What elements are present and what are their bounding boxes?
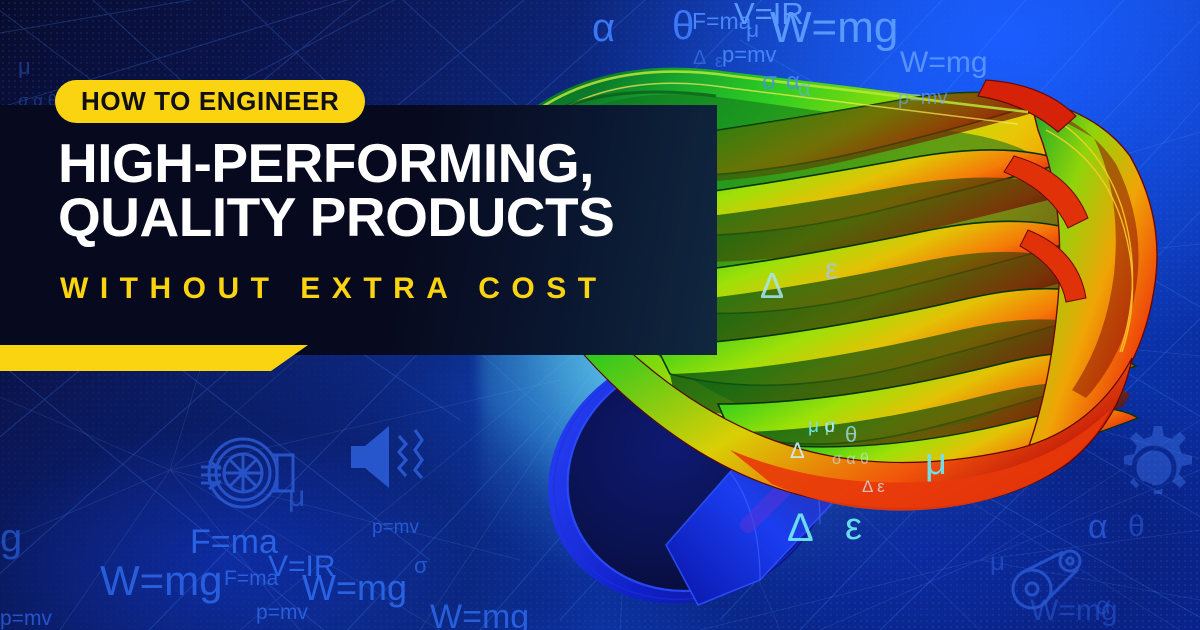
physics-symbol: W=mg <box>900 48 988 78</box>
gear-icon <box>1108 422 1200 514</box>
physics-symbol: W=mg <box>1030 596 1118 626</box>
engineering-banner: αθF=maV=IRμW=mgp=mvΔεσαW=mgp=mvαμσ α θεΔ… <box>0 0 1200 630</box>
physics-symbol: Δ <box>760 268 784 304</box>
subtitle: WITHOUT EXTRA COST <box>60 272 608 306</box>
physics-symbol: μ <box>990 548 1005 574</box>
physics-symbol: p=mv <box>256 602 308 623</box>
physics-symbol: μ <box>746 18 759 41</box>
physics-symbol: W=mg <box>302 570 407 606</box>
headline-line-1: HIGH-PERFORMING, <box>58 136 708 190</box>
headline-line-2: QUALITY PRODUCTS <box>58 190 708 244</box>
physics-symbol: α <box>1088 510 1108 544</box>
physics-symbol: W=mg <box>770 6 898 50</box>
physics-symbol: ε <box>715 52 723 70</box>
physics-symbol: W=mg <box>100 560 223 602</box>
physics-symbol: p=mv <box>0 608 52 629</box>
yellow-accent-bar <box>0 345 308 371</box>
physics-symbol: F=ma <box>190 525 278 559</box>
physics-symbol: W=mg <box>430 600 529 630</box>
physics-symbol: p=mv <box>722 44 776 66</box>
physics-symbol: Δ <box>790 440 805 462</box>
physics-symbol: α <box>592 8 615 48</box>
physics-symbol: μ <box>288 482 305 512</box>
physics-symbol: ε <box>845 508 862 546</box>
physics-symbol: ε <box>825 255 838 285</box>
physics-symbol: Δ <box>693 48 706 68</box>
physics-symbol: Δ <box>787 508 814 548</box>
physics-symbol: p=mv <box>372 518 419 537</box>
physics-symbol: g <box>0 518 22 558</box>
physics-symbol: μ <box>825 418 835 435</box>
physics-symbol: Δ ε <box>862 478 885 495</box>
speaker-sound-icon <box>345 418 430 496</box>
physics-symbol: σ α θ <box>832 452 869 468</box>
physics-symbol: θ <box>1128 512 1145 542</box>
physics-symbol: p=mv <box>898 88 947 108</box>
physics-symbol: θ <box>672 6 694 46</box>
page-title: HIGH-PERFORMING, QUALITY PRODUCTS <box>58 136 708 245</box>
eyebrow-badge: HOW TO ENGINEER <box>55 80 365 123</box>
physics-symbol: μ <box>925 443 947 481</box>
physics-symbol: α <box>798 78 811 100</box>
physics-symbol: θ <box>845 424 857 446</box>
physics-symbol: σ <box>414 555 428 577</box>
physics-symbol: μ <box>18 56 31 78</box>
physics-symbol: σ <box>762 70 777 94</box>
eyebrow-badge-label: HOW TO ENGINEER <box>81 86 339 117</box>
